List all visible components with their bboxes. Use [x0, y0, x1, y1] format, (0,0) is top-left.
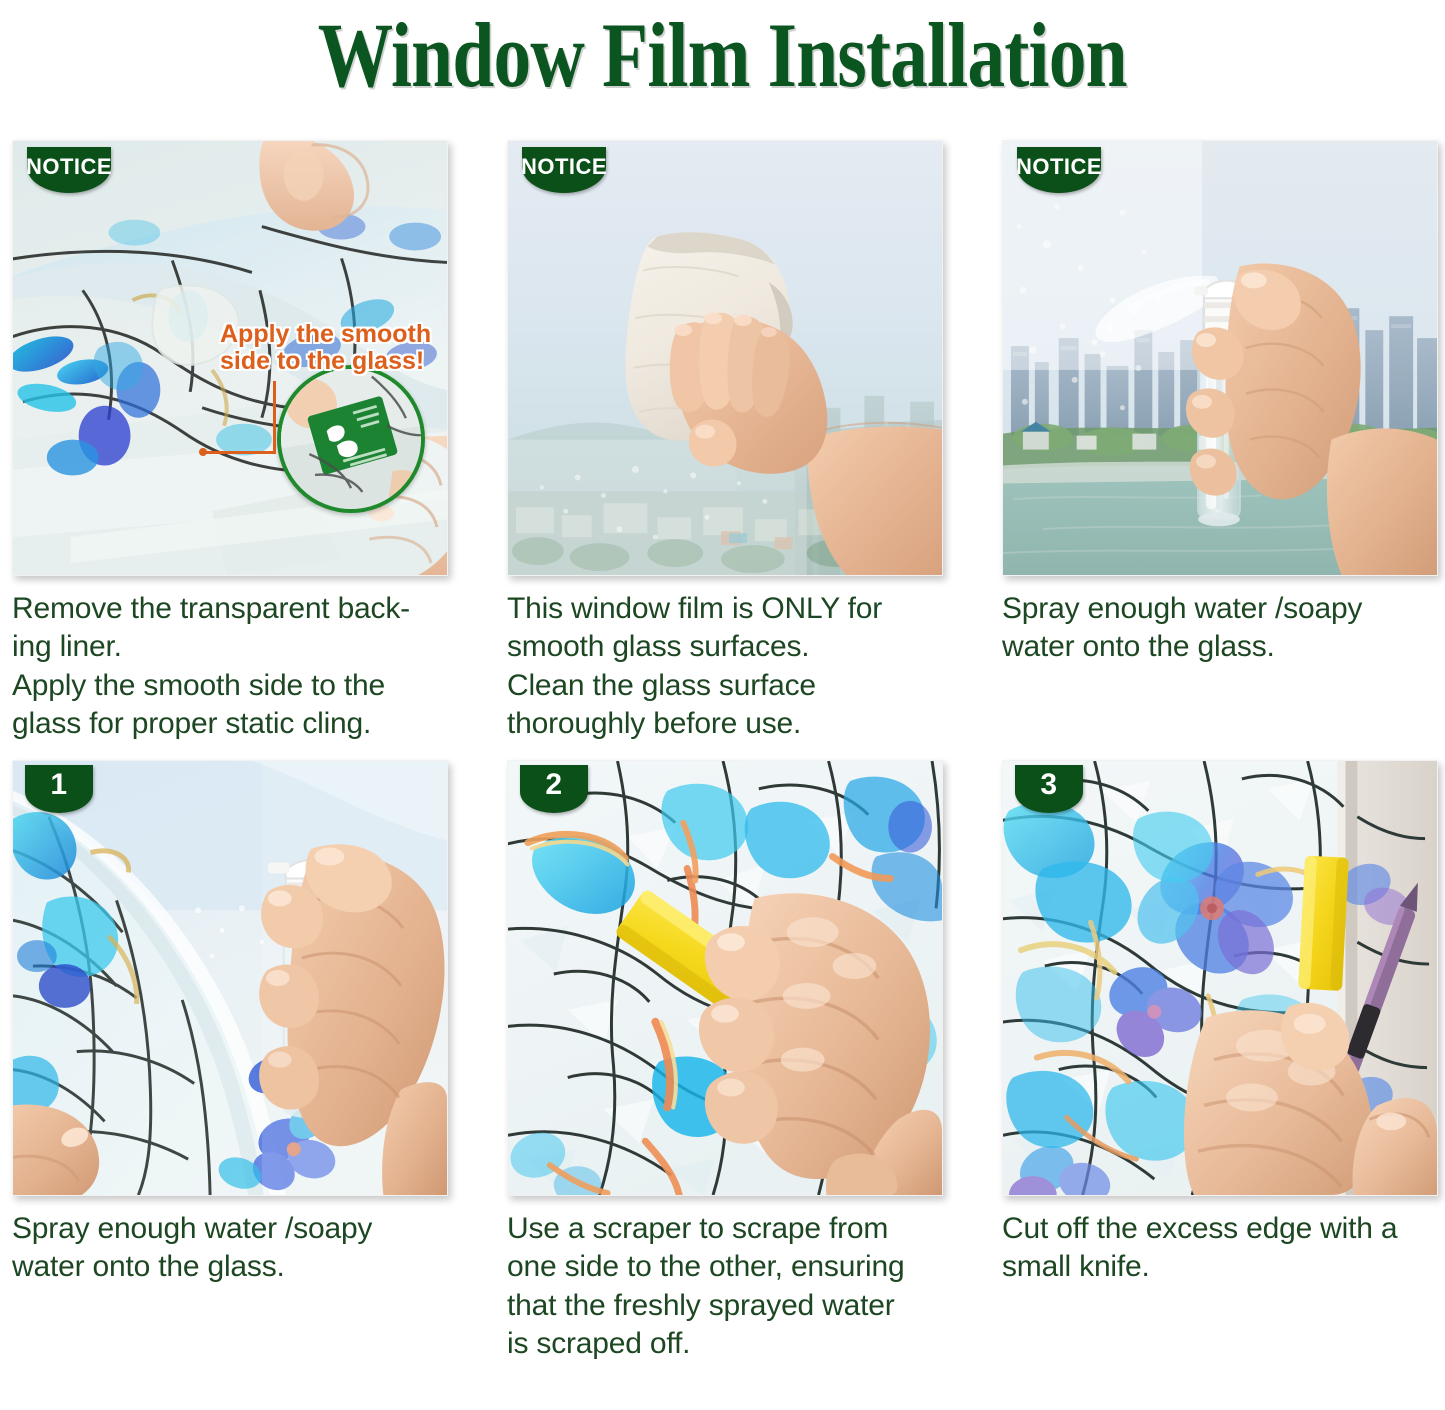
liner-corner-magnifier-inset	[277, 365, 425, 513]
panel-grid: NOTICE Apply the smooth side to the glas…	[12, 140, 1442, 1360]
notice-badge-label: NOTICE	[26, 154, 112, 186]
panel-3: NOTICE Spray enough water /soapy water o…	[1002, 140, 1442, 760]
panel-4: 1 Spray enough water /soapy water onto t…	[12, 760, 507, 1360]
page-title-bar: Window Film Installation	[0, 0, 1445, 110]
notice-badge-label: NOTICE	[521, 154, 607, 186]
panel-5-caption: Use a scraper to scrape from one side to…	[507, 1210, 959, 1364]
panel-4-caption: Spray enough water /soapy water onto the…	[12, 1210, 464, 1287]
panel-6: 3 Cut off the excess edge with a small k…	[1002, 760, 1442, 1360]
step2-scrape-film-photo: 2	[507, 760, 943, 1196]
panel-row-bottom: 1 Spray enough water /soapy water onto t…	[12, 760, 1442, 1360]
window-cleaning-art	[508, 141, 942, 575]
step-number-badge: 3	[1015, 765, 1083, 813]
step-number-label: 2	[545, 768, 562, 810]
step-number-label: 1	[50, 768, 67, 810]
step3-cut-edge-photo: 3	[1002, 760, 1438, 1196]
panel-2: NOTICE This window film is ONLY for smoo…	[507, 140, 1002, 760]
panel-3-caption: Spray enough water /soapy water onto the…	[1002, 590, 1445, 667]
panel-1: NOTICE Apply the smooth side to the glas…	[12, 140, 507, 760]
apply-callout-leader-horizontal	[203, 451, 276, 454]
peeling-film-spray-art	[13, 761, 447, 1195]
panel-5: 2 Use a scraper to scrape from one side …	[507, 760, 1002, 1360]
spray-bottle-window-art	[1003, 141, 1437, 575]
page-title: Window Film Installation	[318, 9, 1127, 101]
scraper-on-film-art	[508, 761, 942, 1195]
panel-1-caption: Remove the transparent back- ing liner. …	[12, 590, 464, 744]
panel-6-caption: Cut off the excess edge with a small kni…	[1002, 1210, 1445, 1287]
cutting-edge-art	[1003, 761, 1437, 1195]
notice-badge-label: NOTICE	[1016, 154, 1102, 186]
apply-smooth-side-callout: Apply the smooth side to the glass!	[220, 321, 431, 375]
step-number-badge: 1	[25, 765, 93, 813]
apply-callout-anchor-dot	[199, 448, 207, 456]
film-backing-liner-photo: NOTICE Apply the smooth side to the glas…	[12, 140, 448, 576]
step-number-badge: 2	[520, 765, 588, 813]
infographic-page: Window Film Installation	[0, 0, 1445, 1410]
step1-spray-film-photo: 1	[12, 760, 448, 1196]
panel-2-caption: This window film is ONLY for smooth glas…	[507, 590, 959, 744]
step-number-label: 3	[1040, 768, 1057, 810]
cleaning-glass-photo: NOTICE	[507, 140, 943, 576]
spraying-water-photo: NOTICE	[1002, 140, 1438, 576]
panel-row-top: NOTICE Apply the smooth side to the glas…	[12, 140, 1442, 760]
apply-callout-leader-vertical	[273, 381, 276, 453]
